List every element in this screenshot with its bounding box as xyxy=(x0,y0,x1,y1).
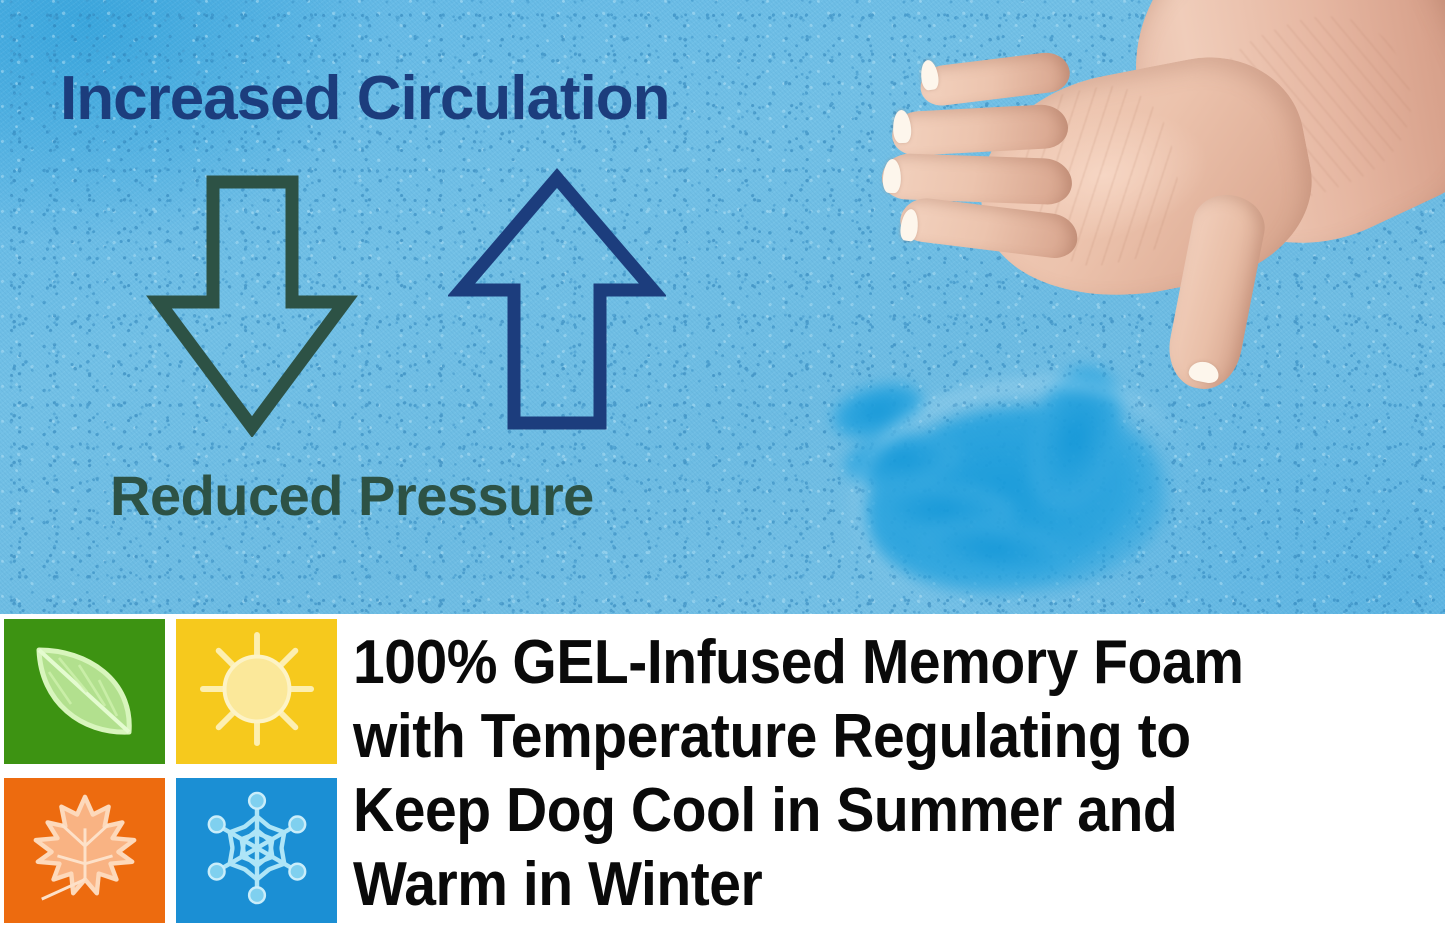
leaf-icon xyxy=(25,634,145,749)
arrow-down-icon xyxy=(145,172,360,437)
marketing-copy: 100% GEL-Infused Memory Foam with Temper… xyxy=(353,626,1445,922)
product-feature-graphic: Increased Circulation Reduced Pressure xyxy=(0,0,1445,927)
feature-callout-bar: 100% GEL-Infused Memory Foam with Temper… xyxy=(0,614,1445,927)
copy-line-2: with Temperature Regulating to xyxy=(353,700,1358,774)
increased-circulation-label: Increased Circulation xyxy=(60,63,670,134)
copy-line-4: Warm in Winter xyxy=(353,848,1358,922)
season-tile-autumn xyxy=(4,778,165,923)
arrow-up-icon xyxy=(448,168,666,433)
ring-finger xyxy=(881,153,1072,206)
hand-photo xyxy=(790,0,1445,470)
middle-finger xyxy=(891,103,1069,156)
season-tile-summer xyxy=(176,619,337,764)
reduced-pressure-label: Reduced Pressure xyxy=(110,463,594,528)
sun-icon xyxy=(198,630,316,753)
copy-line-3: Keep Dog Cool in Summer and xyxy=(353,774,1358,848)
maple-leaf-icon xyxy=(25,789,145,912)
snowflake-icon xyxy=(198,789,316,912)
season-tile-spring xyxy=(4,619,165,764)
copy-line-1: 100% GEL-Infused Memory Foam xyxy=(353,626,1358,700)
gel-foam-photo: Increased Circulation Reduced Pressure xyxy=(0,0,1445,614)
season-tile-winter xyxy=(176,778,337,923)
season-tile-grid xyxy=(4,619,340,923)
